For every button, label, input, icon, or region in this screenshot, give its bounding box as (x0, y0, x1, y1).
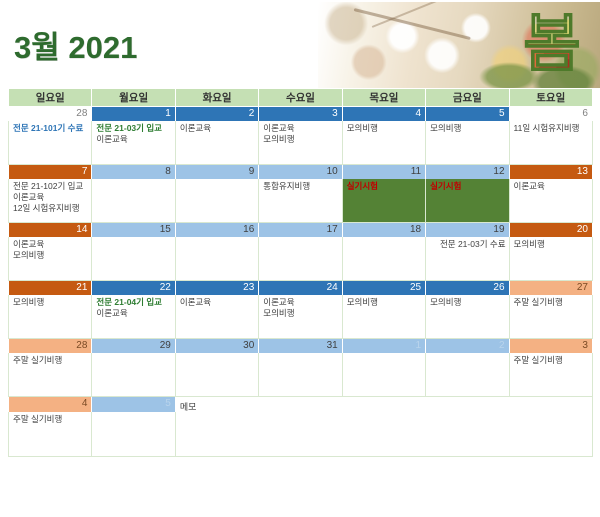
date-number-1[interactable]: 1 (342, 339, 425, 354)
date-number-24[interactable]: 24 (259, 281, 342, 296)
event-label: 이론교육 (96, 134, 171, 145)
day-cell-14[interactable]: 이론교육모의비행 (9, 237, 92, 281)
event-label: 실기시험 (430, 181, 505, 192)
day-cell-23[interactable]: 이론교육 (175, 295, 258, 339)
dow-header-saturday: 토요일 (509, 89, 592, 107)
calendar-header: 봄 봄 3월 2021 (0, 0, 600, 88)
event-label: 모의비행 (347, 297, 422, 308)
day-of-week-header-row: 일요일 월요일 화요일 수요일 목요일 금요일 토요일 (9, 89, 593, 107)
date-number-16[interactable]: 16 (175, 223, 258, 238)
day-cell-15[interactable] (92, 237, 175, 281)
date-number-23[interactable]: 23 (175, 281, 258, 296)
day-cell-1[interactable] (342, 353, 425, 397)
day-cell-20[interactable]: 모의비행 (509, 237, 592, 281)
week-date-row: 28293031123 (9, 339, 593, 354)
date-number-3[interactable]: 3 (509, 339, 592, 354)
date-number-8[interactable]: 8 (92, 165, 175, 180)
date-number-14[interactable]: 14 (9, 223, 92, 238)
date-number-26[interactable]: 26 (426, 281, 509, 296)
date-number-3[interactable]: 3 (259, 107, 342, 122)
event-label: 전문 21-03기 입교 (96, 123, 171, 134)
week-events-row: 모의비행전문 21-04기 입교이론교육이론교육이론교육모의비행모의비행모의비행… (9, 295, 593, 339)
event-label: 11일 시험유지비행 (514, 123, 589, 134)
bom-logo-icon: 봄 봄 (521, 10, 583, 78)
day-cell-5[interactable]: 모의비행 (426, 121, 509, 165)
day-cell-2[interactable] (426, 353, 509, 397)
event-label: 이론교육 (96, 308, 171, 319)
day-cell-3[interactable]: 주말 실기비행 (509, 353, 592, 397)
event-label: 모의비행 (13, 250, 88, 261)
week-date-row: 14151617181920 (9, 223, 593, 238)
day-cell-31[interactable] (259, 353, 342, 397)
date-number-31[interactable]: 31 (259, 339, 342, 354)
event-label: 모의비행 (430, 123, 505, 134)
event-label: 전문 21-04기 입교 (96, 297, 171, 308)
day-cell-8[interactable] (92, 179, 175, 223)
day-cell-7[interactable]: 전문 21-102기 입교이론교육12일 시험유지비행 (9, 179, 92, 223)
event-label: 전문 21-102기 입교 (13, 181, 88, 192)
week-date-row: 45메모 (9, 397, 593, 412)
event-label: 이론교육 (13, 192, 88, 203)
date-number-25[interactable]: 25 (342, 281, 425, 296)
day-cell-13[interactable]: 이론교육 (509, 179, 592, 223)
event-label: 모의비행 (263, 134, 338, 145)
event-label: 이론교육 (514, 181, 589, 192)
day-cell-26[interactable]: 모의비행 (426, 295, 509, 339)
day-cell-3[interactable]: 이론교육모의비행 (259, 121, 342, 165)
day-cell-1[interactable]: 전문 21-03기 입교이론교육 (92, 121, 175, 165)
event-label: 모의비행 (13, 297, 88, 308)
week-date-row: 78910111213 (9, 165, 593, 180)
event-label: 전문 21-03기 수료 (430, 239, 505, 250)
event-label: 전문 21-101기 수료 (13, 123, 88, 134)
day-cell-16[interactable] (175, 237, 258, 281)
date-number-7[interactable]: 7 (9, 165, 92, 180)
day-cell-25[interactable]: 모의비행 (342, 295, 425, 339)
event-label: 이론교육 (13, 239, 88, 250)
event-label: 이론교육 (180, 297, 255, 308)
week-events-row: 전문 21-102기 입교이론교육12일 시험유지비행통합유지비행실기시험실기시… (9, 179, 593, 223)
day-cell-19[interactable]: 전문 21-03기 수료 (426, 237, 509, 281)
event-label: 모의비행 (347, 123, 422, 134)
week-events-row: 이론교육모의비행전문 21-03기 수료모의비행 (9, 237, 593, 281)
date-number-28[interactable]: 28 (9, 107, 92, 122)
day-cell-11[interactable]: 실기시험 (342, 179, 425, 223)
event-label: 12일 시험유지비행 (13, 203, 88, 214)
dow-header-thursday: 목요일 (342, 89, 425, 107)
dow-header-friday: 금요일 (426, 89, 509, 107)
day-cell-21[interactable]: 모의비행 (9, 295, 92, 339)
dow-header-tuesday: 화요일 (175, 89, 258, 107)
date-number-9[interactable]: 9 (175, 165, 258, 180)
event-label: 이론교육 (180, 123, 255, 134)
date-number-11[interactable]: 11 (342, 165, 425, 180)
date-number-2[interactable]: 2 (426, 339, 509, 354)
date-number-17[interactable]: 17 (259, 223, 342, 238)
day-cell-4[interactable]: 주말 실기비행 (9, 412, 92, 457)
day-cell-4[interactable]: 모의비행 (342, 121, 425, 165)
day-cell-6[interactable]: 11일 시험유지비행 (509, 121, 592, 165)
event-label: 이론교육 (263, 297, 338, 308)
date-number-6[interactable]: 6 (509, 107, 592, 122)
date-number-15[interactable]: 15 (92, 223, 175, 238)
day-cell-22[interactable]: 전문 21-04기 입교이론교육 (92, 295, 175, 339)
event-label: 주말 실기비행 (514, 355, 589, 366)
day-cell-24[interactable]: 이론교육모의비행 (259, 295, 342, 339)
day-cell-29[interactable] (92, 353, 175, 397)
day-cell-2[interactable]: 이론교육 (175, 121, 258, 165)
day-cell-30[interactable] (175, 353, 258, 397)
memo-label: 메모 (180, 400, 588, 413)
week-date-row: 21222324252627 (9, 281, 593, 296)
day-cell-28[interactable]: 주말 실기비행 (9, 353, 92, 397)
date-number-28[interactable]: 28 (9, 339, 92, 354)
date-number-4[interactable]: 4 (342, 107, 425, 122)
event-label: 주말 실기비행 (514, 297, 589, 308)
date-number-5[interactable]: 5 (426, 107, 509, 122)
date-number-1[interactable]: 1 (92, 107, 175, 122)
date-number-4[interactable]: 4 (9, 397, 92, 412)
event-label: 모의비행 (514, 239, 589, 250)
date-number-30[interactable]: 30 (175, 339, 258, 354)
calendar-weeks: 28123456전문 21-101기 수료전문 21-03기 입교이론교육이론교… (9, 107, 593, 457)
day-cell-18[interactable] (342, 237, 425, 281)
event-label: 통합유지비행 (263, 181, 338, 192)
date-number-2[interactable]: 2 (175, 107, 258, 122)
event-label: 이론교육 (263, 123, 338, 134)
date-number-10[interactable]: 10 (259, 165, 342, 180)
event-label: 모의비행 (430, 297, 505, 308)
date-number-29[interactable]: 29 (92, 339, 175, 354)
event-label: 모의비행 (263, 308, 338, 319)
date-number-18[interactable]: 18 (342, 223, 425, 238)
dow-header-monday: 월요일 (92, 89, 175, 107)
memo-cell[interactable]: 메모 (175, 397, 592, 457)
event-label: 실기시험 (347, 181, 422, 192)
branch-decoration (354, 8, 471, 40)
svg-text:봄: 봄 (523, 10, 580, 78)
day-cell-5[interactable] (92, 412, 175, 457)
date-number-12[interactable]: 12 (426, 165, 509, 180)
date-number-13[interactable]: 13 (509, 165, 592, 180)
day-cell-12[interactable]: 실기시험 (426, 179, 509, 223)
day-cell-28[interactable]: 전문 21-101기 수료 (9, 121, 92, 165)
date-number-21[interactable]: 21 (9, 281, 92, 296)
event-label: 주말 실기비행 (13, 355, 88, 366)
dow-header-sunday: 일요일 (9, 89, 92, 107)
date-number-5[interactable]: 5 (92, 397, 175, 412)
day-cell-10[interactable]: 통합유지비행 (259, 179, 342, 223)
dow-header-wednesday: 수요일 (259, 89, 342, 107)
calendar-grid: 일요일 월요일 화요일 수요일 목요일 금요일 토요일 28123456전문 2… (8, 88, 593, 457)
week-date-row: 28123456 (9, 107, 593, 122)
day-cell-9[interactable] (175, 179, 258, 223)
week-events-row: 전문 21-101기 수료전문 21-03기 입교이론교육이론교육이론교육모의비… (9, 121, 593, 165)
date-number-20[interactable]: 20 (509, 223, 592, 238)
day-cell-27[interactable]: 주말 실기비행 (509, 295, 592, 339)
date-number-19[interactable]: 19 (426, 223, 509, 238)
date-number-27[interactable]: 27 (509, 281, 592, 296)
day-cell-17[interactable] (259, 237, 342, 281)
date-number-22[interactable]: 22 (92, 281, 175, 296)
page-title: 3월 2021 (14, 22, 137, 67)
week-events-row: 주말 실기비행주말 실기비행 (9, 353, 593, 397)
event-label: 주말 실기비행 (13, 414, 88, 425)
